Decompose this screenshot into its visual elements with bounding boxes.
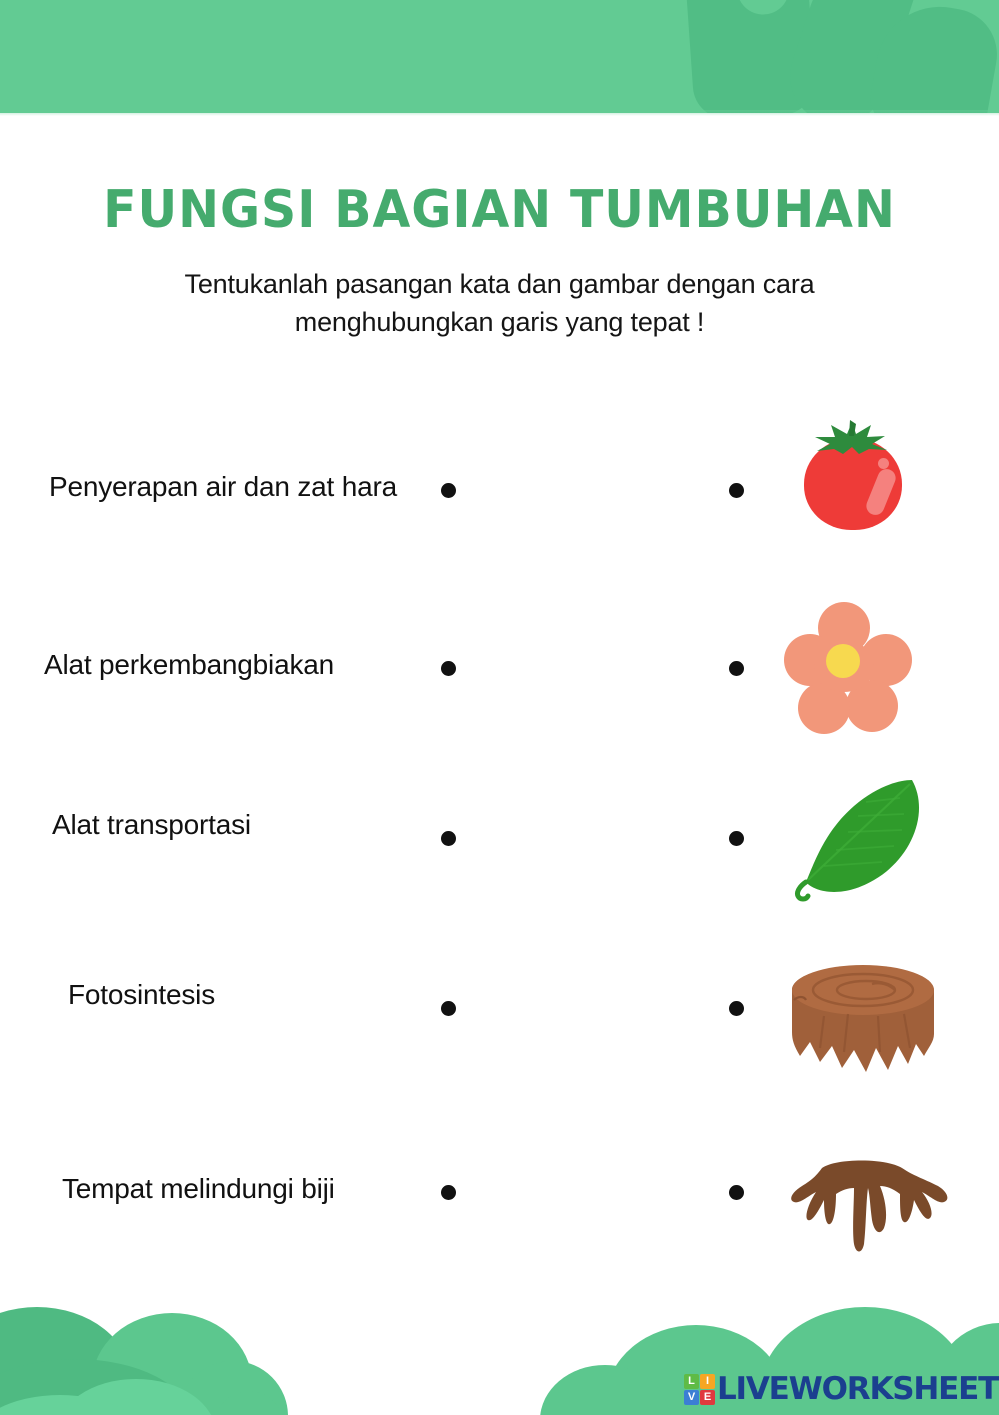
worksheet-page: FUNGSI BAGIAN TUMBUHAN Tentukanlah pasan… bbox=[0, 0, 999, 1415]
tomato-stem-shape bbox=[809, 420, 895, 456]
tree-stump-shape bbox=[762, 952, 962, 1082]
left-term-label: Penyerapan air dan zat hara bbox=[49, 466, 429, 509]
leaf-icon bbox=[762, 772, 962, 902]
right-connector-dot[interactable] bbox=[729, 483, 744, 498]
left-connector-dot[interactable] bbox=[441, 1001, 456, 1016]
right-connector-dot[interactable] bbox=[729, 1001, 744, 1016]
roots-icon bbox=[762, 1140, 962, 1270]
left-connector-dot[interactable] bbox=[441, 661, 456, 676]
right-connector-dot[interactable] bbox=[729, 1185, 744, 1200]
left-term-label: Alat transportasi bbox=[52, 804, 432, 847]
left-term-label: Fotosintesis bbox=[68, 974, 428, 1017]
left-term-label: Tempat melindungi biji bbox=[62, 1168, 434, 1211]
tomato-icon bbox=[762, 416, 962, 546]
flower-icon bbox=[762, 600, 962, 730]
flower-center bbox=[826, 644, 860, 678]
left-term-label: Alat perkembangbiakan bbox=[44, 644, 434, 687]
tomato-gloss-dot bbox=[878, 458, 889, 469]
logo-tile-v: V bbox=[684, 1390, 699, 1405]
logo-tile-l: L bbox=[684, 1374, 699, 1389]
liveworksheets-logo[interactable]: L I V E LIVEWORKSHEETS bbox=[684, 1374, 999, 1405]
matching-exercise: Penyerapan air dan zat hara Alat perkemb… bbox=[0, 0, 999, 1415]
leaf-shape bbox=[762, 772, 962, 902]
tree-stump-icon bbox=[762, 952, 962, 1082]
left-connector-dot[interactable] bbox=[441, 483, 456, 498]
left-connector-dot[interactable] bbox=[441, 831, 456, 846]
right-connector-dot[interactable] bbox=[729, 831, 744, 846]
left-connector-dot[interactable] bbox=[441, 1185, 456, 1200]
right-connector-dot[interactable] bbox=[729, 661, 744, 676]
roots-shape bbox=[762, 1140, 962, 1270]
logo-tile-e: E bbox=[700, 1390, 715, 1405]
liveworksheets-logo-tiles: L I V E bbox=[684, 1374, 715, 1405]
logo-wordmark: LIVEWORKSHEETS bbox=[717, 1374, 999, 1405]
logo-tile-i: I bbox=[700, 1374, 715, 1389]
